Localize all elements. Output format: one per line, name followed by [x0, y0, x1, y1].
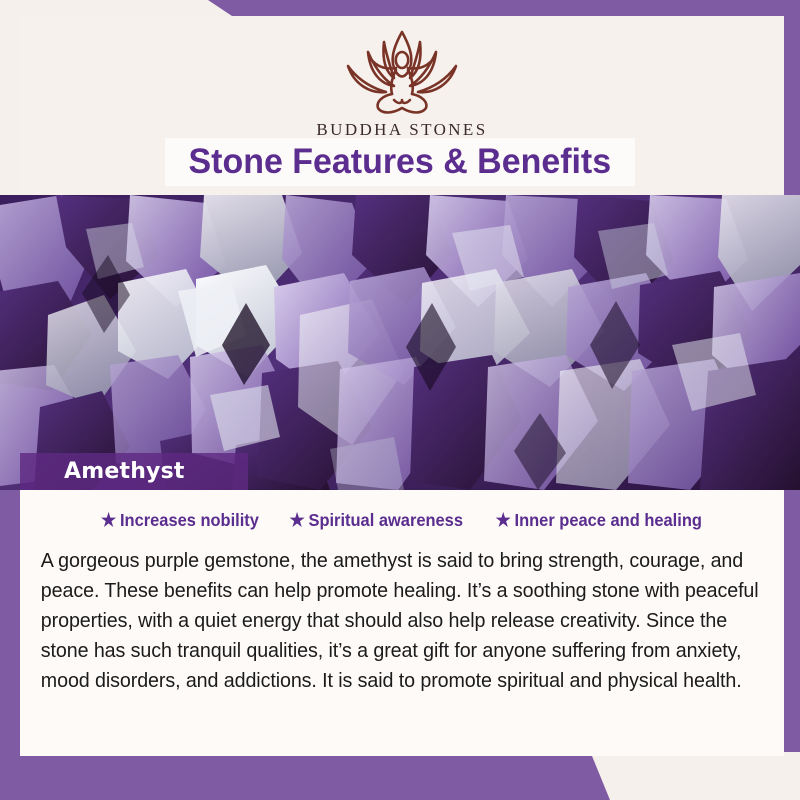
stone-feature-poster: BUDDHA STONES Stone Features & Benefits …	[0, 0, 800, 800]
page-title: Stone Features & Benefits	[189, 142, 612, 182]
star-icon: ★	[290, 511, 305, 529]
stone-description: A gorgeous purple gemstone, the amethyst…	[36, 546, 776, 696]
frame-left-strip	[0, 488, 20, 758]
benefits-list: ★ Increases nobility ★ Spiritual awarene…	[36, 490, 768, 544]
star-icon: ★	[495, 511, 510, 529]
frame-top-band	[0, 0, 800, 16]
benefit-item: ★ Increases nobility	[101, 510, 259, 531]
benefit-item: ★ Inner peace and healing	[495, 510, 701, 531]
amethyst-crystal-cluster-photo	[0, 195, 800, 490]
benefit-label: Spiritual awareness	[308, 510, 463, 531]
brand-name: BUDDHA STONES	[316, 120, 487, 140]
stone-name-banner: Amethyst	[20, 453, 248, 490]
benefit-label: Increases nobility	[120, 510, 259, 531]
benefit-label: Inner peace and healing	[514, 510, 701, 531]
star-icon: ★	[101, 511, 116, 529]
body-area: ★ Increases nobility ★ Spiritual awarene…	[20, 490, 784, 756]
lotus-meditation-icon	[327, 26, 477, 118]
title-banner: Stone Features & Benefits	[165, 138, 635, 186]
stone-name: Amethyst	[64, 459, 185, 484]
benefit-item: ★ Spiritual awareness	[290, 510, 463, 531]
